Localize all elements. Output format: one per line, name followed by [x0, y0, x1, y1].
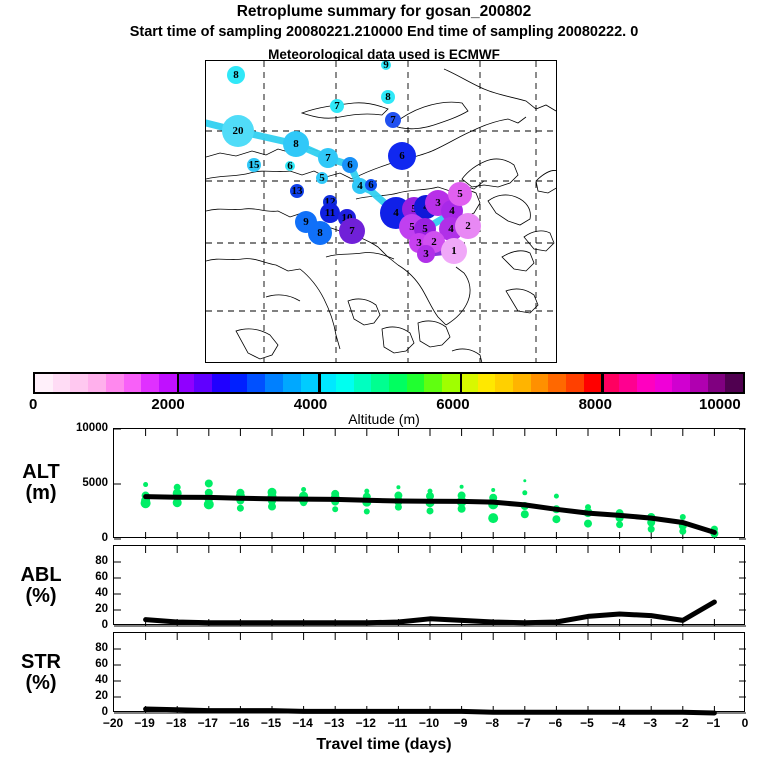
- colorbar-divider: [460, 374, 463, 392]
- map-marker-label: 7: [325, 152, 331, 164]
- map-marker-label: 6: [399, 150, 405, 162]
- alt-ytick-10000: 10000: [50, 422, 108, 434]
- alt-plot-panel: [113, 428, 745, 538]
- colorbar-swatch-22: [424, 374, 442, 392]
- map-marker-label: 9: [383, 60, 389, 71]
- map-marker-label: 2: [431, 236, 437, 248]
- colorbar-swatch-5: [124, 374, 142, 392]
- abl-row-label-line1: ABL: [6, 565, 76, 586]
- colorbar-swatch-37: [690, 374, 708, 392]
- colorbar-swatch-4: [106, 374, 124, 392]
- xtick--2: −2: [675, 716, 689, 730]
- colorbar-divider: [177, 374, 180, 392]
- map-marker-label: 5: [457, 188, 463, 200]
- map-marker-label: 4: [393, 207, 399, 219]
- colorbar-swatch-10: [212, 374, 230, 392]
- altitude-colorbar: [33, 372, 745, 394]
- map-marker-label: 5: [319, 172, 325, 184]
- xtick--15: −15: [261, 716, 281, 730]
- xtick--14: −14: [292, 716, 312, 730]
- map-marker-label: 11: [325, 207, 335, 219]
- xtick--9: −9: [454, 716, 468, 730]
- colorbar-swatch-30: [566, 374, 584, 392]
- map-marker-label: 4: [448, 223, 454, 235]
- xtick--17: −17: [198, 716, 218, 730]
- colorbar-swatch-14: [283, 374, 301, 392]
- colorbar-divider: [318, 374, 321, 392]
- retroplume-map: 8987720861567561346121198107454345554232…: [205, 60, 557, 363]
- page-title: Retroplume summary for gosan_200802: [0, 3, 768, 21]
- xtick--16: −16: [229, 716, 249, 730]
- colorbar-swatch-3: [88, 374, 106, 392]
- alt-row-label-line2: (m): [6, 483, 76, 504]
- colorbar-swatch-16: [318, 374, 336, 392]
- colorbar-swatch-2: [70, 374, 88, 392]
- map-marker-label: 4: [357, 180, 363, 192]
- colorbar-swatch-24: [460, 374, 478, 392]
- colorbar-swatch-18: [354, 374, 372, 392]
- map-marker-label: 8: [385, 91, 391, 103]
- xtick--13: −13: [324, 716, 344, 730]
- xtick--5: −5: [580, 716, 594, 730]
- str-ytick-0: 0: [50, 706, 108, 718]
- colorbar-axis-label: Altitude (m): [0, 411, 768, 427]
- map-marker-label: 4: [449, 205, 455, 217]
- colorbar-swatch-28: [531, 374, 549, 392]
- map-marker-label: 6: [347, 159, 353, 171]
- colorbar-swatch-32: [602, 374, 620, 392]
- xtick--10: −10: [419, 716, 439, 730]
- map-marker-label: 8: [293, 138, 299, 150]
- map-marker-label: 3: [435, 197, 441, 209]
- colorbar-swatch-34: [637, 374, 655, 392]
- map-marker-label: 7: [390, 114, 396, 126]
- xtick--19: −19: [134, 716, 154, 730]
- colorbar-swatch-21: [407, 374, 425, 392]
- colorbar-swatch-23: [442, 374, 460, 392]
- colorbar-swatch-0: [35, 374, 53, 392]
- colorbar-swatch-39: [725, 374, 743, 392]
- colorbar-swatch-33: [619, 374, 637, 392]
- alt-row-label-line1: ALT: [6, 462, 76, 483]
- alt-ytick-0: 0: [50, 532, 108, 544]
- xtick--18: −18: [166, 716, 186, 730]
- map-marker-label: 7: [334, 100, 340, 112]
- map-marker-label: 1: [451, 245, 457, 257]
- map-marker-label: 8: [233, 69, 239, 81]
- map-marker-label: 20: [233, 125, 244, 137]
- colorbar-swatch-20: [389, 374, 407, 392]
- xtick-0: 0: [742, 716, 749, 730]
- xtick--6: −6: [549, 716, 563, 730]
- abl-row-label-line2: (%): [6, 586, 76, 607]
- map-marker-label: 2: [465, 220, 471, 232]
- abl-ytick-0: 0: [50, 619, 108, 631]
- abl-plot-canvas: [114, 546, 746, 626]
- x-axis-label: Travel time (days): [0, 736, 768, 754]
- colorbar-swatch-19: [371, 374, 389, 392]
- colorbar-swatch-9: [194, 374, 212, 392]
- colorbar-swatch-38: [708, 374, 726, 392]
- xtick--20: −20: [103, 716, 123, 730]
- colorbar-swatch-27: [513, 374, 531, 392]
- xtick--1: −1: [707, 716, 721, 730]
- xtick--3: −3: [643, 716, 657, 730]
- str-plot-canvas: [114, 633, 746, 713]
- colorbar-swatch-6: [141, 374, 159, 392]
- colorbar-swatch-29: [548, 374, 566, 392]
- colorbar-swatch-26: [495, 374, 513, 392]
- colorbar-swatch-13: [265, 374, 283, 392]
- colorbar-divider: [601, 374, 604, 392]
- map-marker-label: 3: [423, 248, 429, 260]
- xtick--7: −7: [517, 716, 531, 730]
- xtick--11: −11: [388, 716, 408, 730]
- map-marker-label: 8: [317, 227, 323, 239]
- xtick--4: −4: [612, 716, 626, 730]
- colorbar-swatch-1: [53, 374, 71, 392]
- map-marker-label: 9: [303, 216, 309, 228]
- colorbar-swatch-8: [177, 374, 195, 392]
- str-row-label: STR(%): [6, 652, 76, 694]
- str-plot-panel: [113, 632, 745, 712]
- alt-row-label: ALT(m): [6, 462, 76, 504]
- str-row-label-line1: STR: [6, 652, 76, 673]
- map-marker-label: 7: [349, 225, 355, 237]
- colorbar-swatch-36: [672, 374, 690, 392]
- abl-row-label: ABL(%): [6, 565, 76, 607]
- colorbar-swatch-17: [336, 374, 354, 392]
- xtick--12: −12: [356, 716, 376, 730]
- colorbar-swatch-7: [159, 374, 177, 392]
- alt-plot-canvas: [114, 429, 746, 539]
- map-marker-label: 6: [368, 179, 374, 191]
- sampling-time-line: Start time of sampling 20080221.210000 E…: [0, 24, 768, 40]
- colorbar-swatch-12: [247, 374, 265, 392]
- colorbar-swatch-25: [478, 374, 496, 392]
- map-marker-label: 6: [287, 160, 293, 172]
- colorbar-swatch-11: [230, 374, 248, 392]
- map-marker-label: 15: [249, 159, 260, 171]
- colorbar-swatch-31: [584, 374, 602, 392]
- str-row-label-line2: (%): [6, 673, 76, 694]
- abl-plot-panel: [113, 545, 745, 625]
- colorbar-swatch-35: [655, 374, 673, 392]
- xtick--8: −8: [485, 716, 499, 730]
- map-marker-label: 13: [292, 185, 303, 197]
- colorbar-swatch-15: [301, 374, 319, 392]
